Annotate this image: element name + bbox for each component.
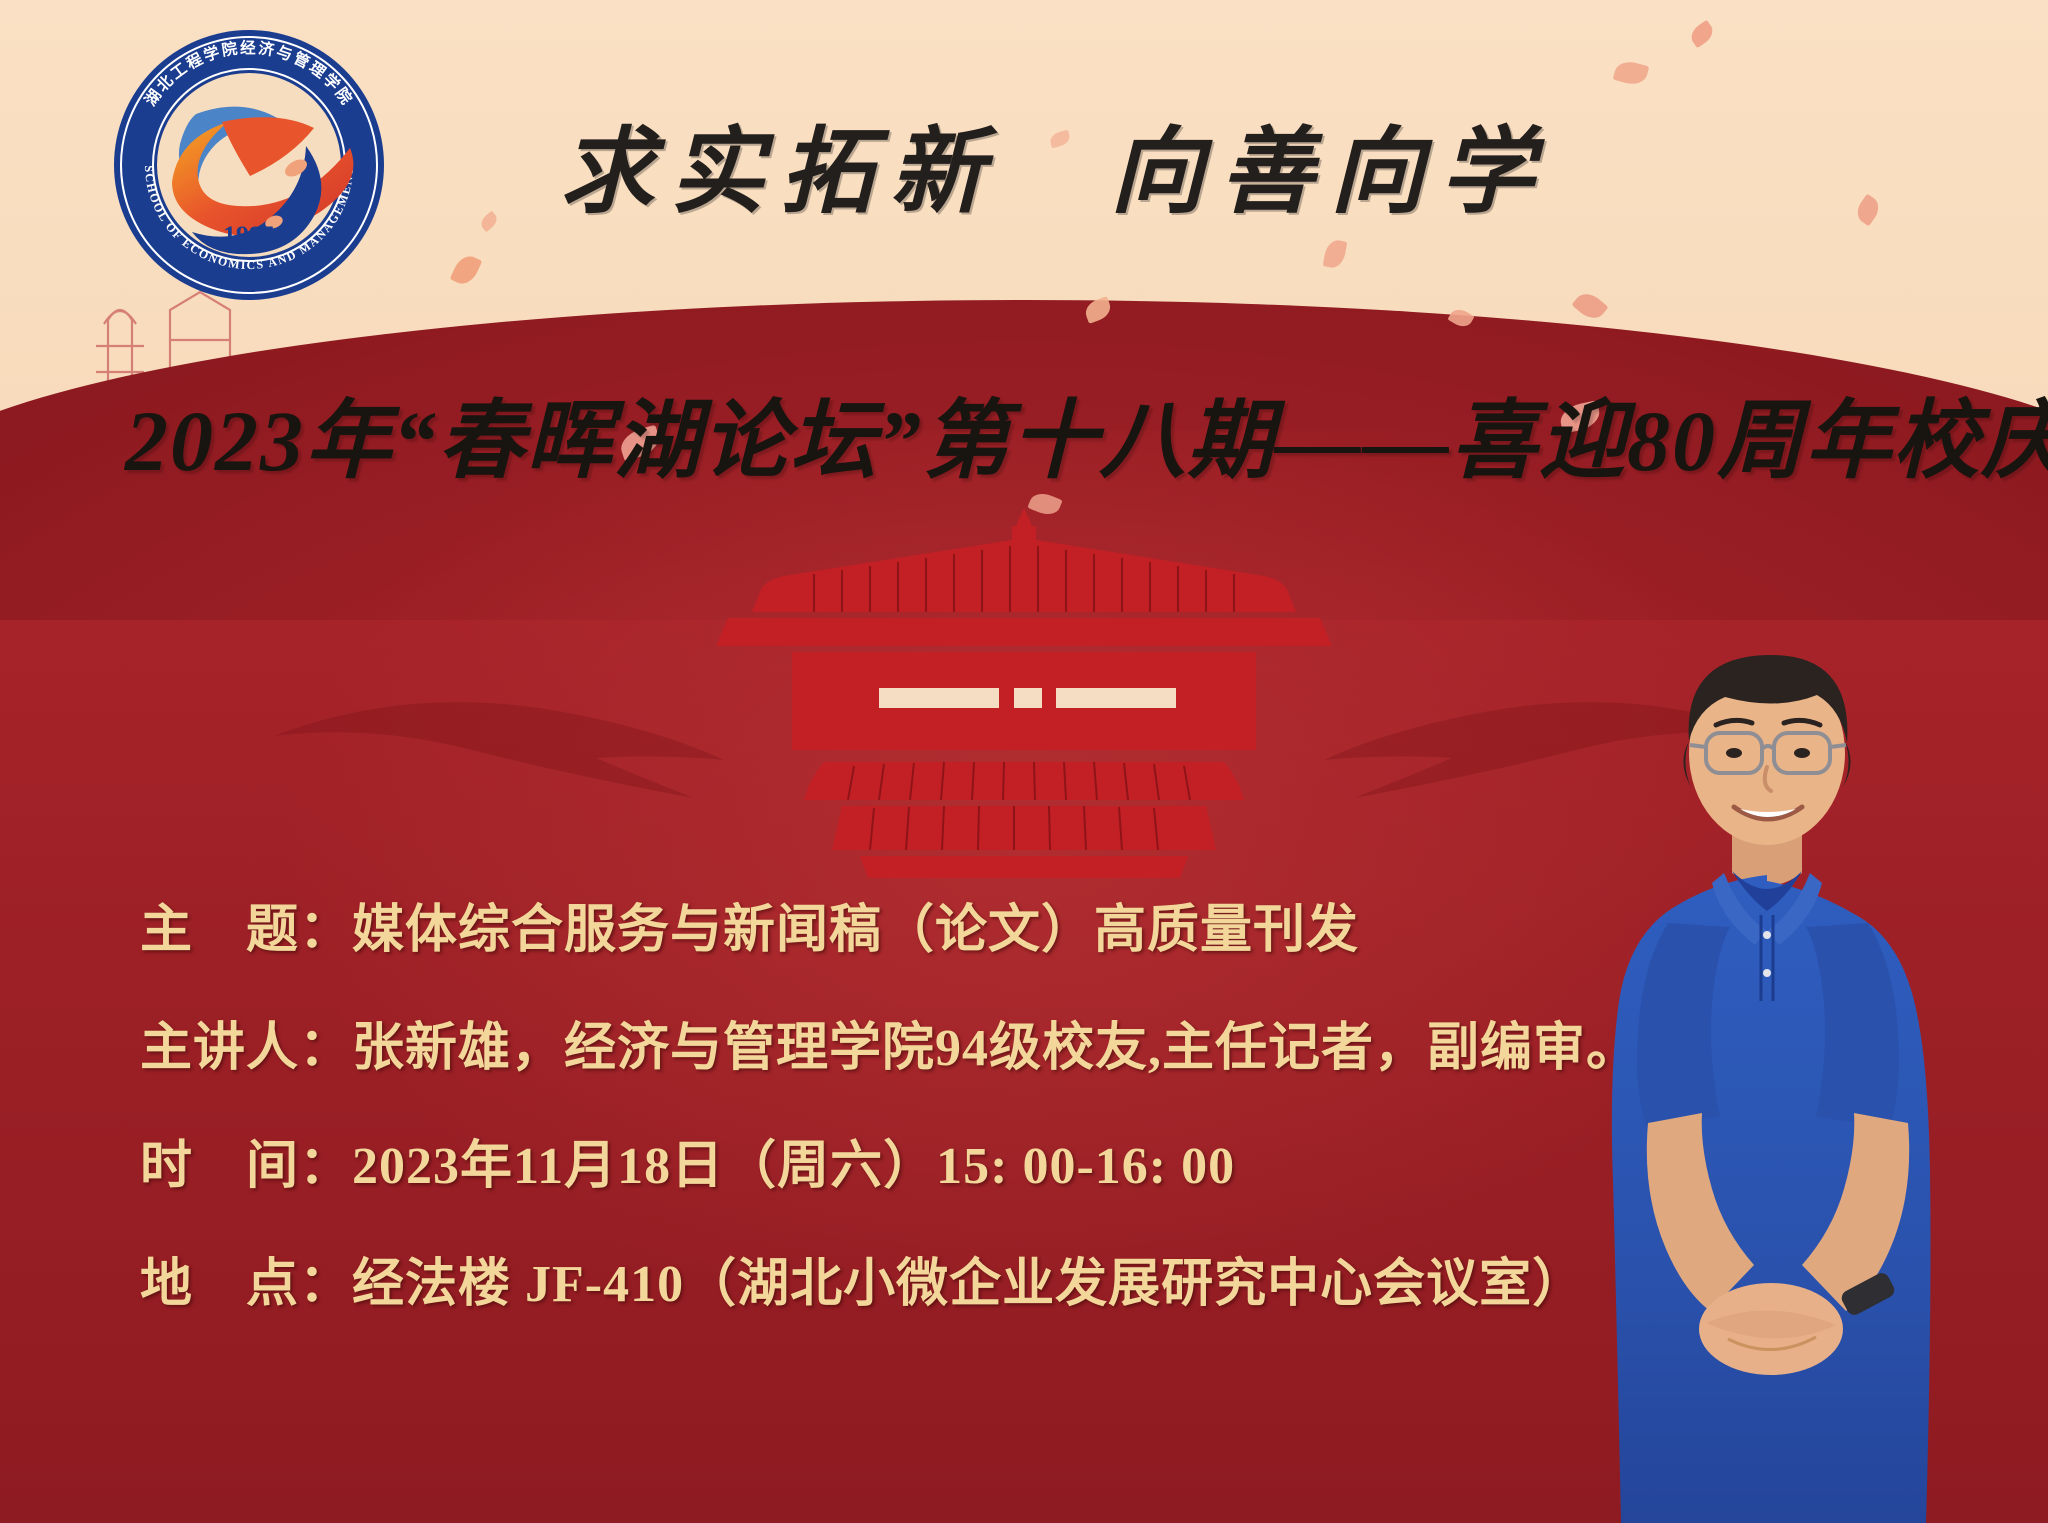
info-value-location: 经法楼 JF-410（湖北小微企业发展研究中心会议室） (352, 1259, 1585, 1311)
info-label-speaker: 主讲人： (140, 1023, 352, 1075)
info-label-topic: 主 题： (140, 905, 352, 957)
info-label-location: 地 点： (140, 1259, 352, 1311)
info-label-time: 时 间： (140, 1141, 352, 1193)
info-row-location: 地 点：经法楼 JF-410（湖北小微企业发展研究中心会议室） (140, 1259, 1700, 1311)
forum-title: 2023年“春晖湖论坛”第十八期——喜迎80周年校庆 (125, 370, 2005, 495)
school-logo: 湖北工程学院经济与管理学院 SCHOOL OF ECONOMICS AND MA… (110, 26, 388, 304)
info-value-time: 2023年11月18日（周六）15: 00-16: 00 (352, 1141, 1235, 1193)
tiananmen-gate-icon (664, 500, 1384, 900)
poster-canvas: 湖北工程学院经济与管理学院 SCHOOL OF ECONOMICS AND MA… (0, 0, 2048, 1523)
speaker-photo (1556, 623, 2026, 1523)
info-row-topic: 主 题：媒体综合服务与新闻稿（论文）高质量刊发 (140, 905, 1700, 957)
logo-year: 1995 (223, 221, 275, 250)
info-row-time: 时 间：2023年11月18日（周六）15: 00-16: 00 (140, 1141, 1700, 1193)
info-value-topic: 媒体综合服务与新闻稿（论文）高质量刊发 (352, 905, 1359, 957)
info-value-speaker: 张新雄，经济与管理学院94级校友,主任记者，副编审。 (352, 1023, 1639, 1075)
info-block: 主 题：媒体综合服务与新闻稿（论文）高质量刊发 主讲人：张新雄，经济与管理学院9… (140, 905, 1700, 1311)
info-row-speaker: 主讲人：张新雄，经济与管理学院94级校友,主任记者，副编审。 (140, 1023, 1700, 1075)
slogan: 求实拓新 向善向学 (560, 96, 1620, 232)
